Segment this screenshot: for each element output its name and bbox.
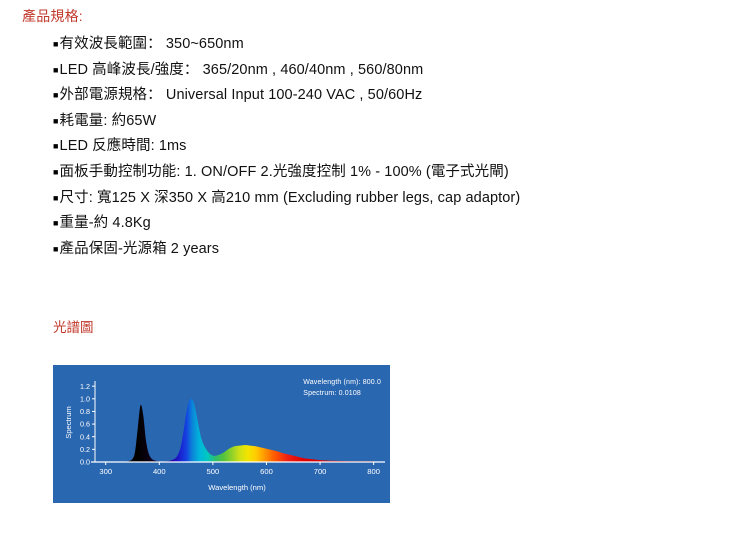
spectrum-chart-panel: 0.00.20.40.60.81.01.2300400500600700800W… bbox=[53, 365, 390, 503]
bullet-icon: ■ bbox=[53, 90, 59, 100]
spectrum-chart: 0.00.20.40.60.81.01.2300400500600700800W… bbox=[53, 365, 390, 503]
list-item-label: LED 反應時間: 1ms bbox=[60, 138, 187, 154]
list-item: ■產品保固-光源箱 2 years bbox=[53, 237, 713, 263]
bullet-icon: ■ bbox=[53, 116, 59, 126]
svg-text:700: 700 bbox=[314, 467, 327, 476]
svg-text:0.8: 0.8 bbox=[80, 407, 90, 416]
list-item: ■重量-約 4.8Kg bbox=[53, 211, 713, 237]
list-item: ■耗電量: 約65W bbox=[53, 109, 713, 135]
list-item: ■有效波長範圍： 350~650nm bbox=[53, 32, 713, 58]
svg-text:400: 400 bbox=[153, 467, 166, 476]
list-item: ■外部電源規格： Universal Input 100-240 VAC , 5… bbox=[53, 83, 713, 109]
bullet-icon: ■ bbox=[53, 141, 59, 151]
svg-text:1.2: 1.2 bbox=[80, 382, 90, 391]
list-item-label: 尺寸: 寬125 X 深350 X 高210 mm (Excluding rub… bbox=[60, 190, 521, 206]
list-item: ■LED 高峰波長/強度： 365/20nm , 460/40nm , 560/… bbox=[53, 58, 713, 84]
bullet-icon: ■ bbox=[53, 244, 59, 254]
svg-text:800: 800 bbox=[367, 467, 380, 476]
bullet-icon: ■ bbox=[53, 167, 59, 177]
list-item: ■面板手動控制功能: 1. ON/OFF 2.光強度控制 1% - 100% (… bbox=[53, 160, 713, 186]
bullet-icon: ■ bbox=[53, 39, 59, 49]
list-item-label: LED 高峰波長/強度： 365/20nm , 460/40nm , 560/8… bbox=[60, 62, 424, 78]
bullet-icon: ■ bbox=[53, 193, 59, 203]
svg-text:0.2: 0.2 bbox=[80, 445, 90, 454]
chart-annotation: Wavelength (nm): 800.0 Spectrum: 0.0108 bbox=[303, 377, 381, 399]
annotation-wavelength: Wavelength (nm): 800.0 bbox=[303, 377, 381, 388]
svg-text:1.0: 1.0 bbox=[80, 394, 90, 403]
section-heading-spectrum: 光譜圖 bbox=[53, 316, 94, 336]
list-item: ■尺寸: 寬125 X 深350 X 高210 mm (Excluding ru… bbox=[53, 186, 713, 212]
list-item-label: 重量-約 4.8Kg bbox=[60, 215, 151, 231]
list-item-label: 耗電量: 約65W bbox=[60, 113, 157, 129]
svg-text:500: 500 bbox=[207, 467, 220, 476]
svg-text:0.4: 0.4 bbox=[80, 432, 90, 441]
annotation-spectrum: Spectrum: 0.0108 bbox=[303, 388, 381, 399]
svg-text:Spectrum: Spectrum bbox=[64, 406, 73, 439]
svg-text:0.0: 0.0 bbox=[80, 458, 90, 467]
list-item-label: 有效波長範圍： 350~650nm bbox=[60, 36, 244, 52]
svg-text:300: 300 bbox=[99, 467, 112, 476]
bullet-icon: ■ bbox=[53, 65, 59, 75]
list-item-label: 面板手動控制功能: 1. ON/OFF 2.光強度控制 1% - 100% (電… bbox=[60, 164, 509, 180]
list-item-label: 外部電源規格： Universal Input 100-240 VAC , 50… bbox=[60, 87, 423, 103]
page-title: 產品規格: bbox=[22, 6, 83, 26]
svg-text:0.6: 0.6 bbox=[80, 420, 90, 429]
bullet-icon: ■ bbox=[53, 218, 59, 228]
svg-text:Wavelength (nm): Wavelength (nm) bbox=[208, 483, 266, 492]
list-item-label: 產品保固-光源箱 2 years bbox=[60, 241, 220, 257]
spec-list: ■有效波長範圍： 350~650nm ■LED 高峰波長/強度： 365/20n… bbox=[53, 32, 713, 262]
list-item: ■LED 反應時間: 1ms bbox=[53, 134, 713, 160]
svg-text:600: 600 bbox=[260, 467, 273, 476]
